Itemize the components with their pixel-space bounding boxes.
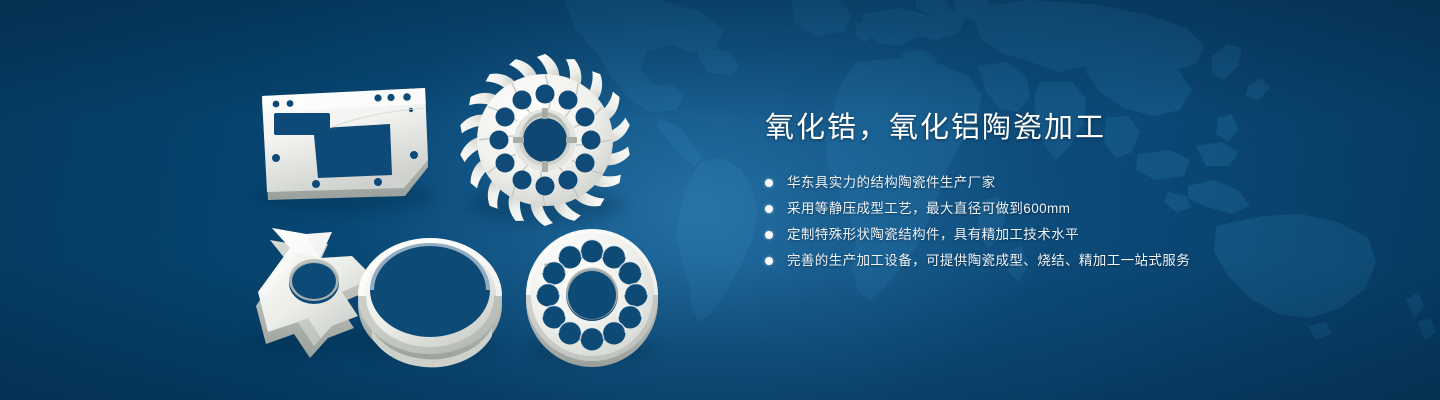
- ceramic-disc: [526, 229, 658, 367]
- banner-copy: 氧化锆，氧化铝陶瓷加工 华东具实力的结构陶瓷件生产厂家 采用等静压成型工艺，最大…: [765, 110, 1365, 278]
- list-item: 采用等静压成型工艺，最大直径可做到600mm: [765, 200, 1365, 218]
- list-item-label: 华东具实力的结构陶瓷件生产厂家: [787, 175, 996, 190]
- bullet-dot-icon: [765, 231, 773, 239]
- ceramic-plate: [262, 88, 428, 200]
- list-item: 定制特殊形状陶瓷结构件，具有精加工技术水平: [765, 226, 1365, 244]
- list-item: 完善的生产加工设备，可提供陶瓷成型、烧结、精加工一站式服务: [765, 252, 1365, 270]
- ceramic-processing-banner: 氧化锆，氧化铝陶瓷加工 华东具实力的结构陶瓷件生产厂家 采用等静压成型工艺，最大…: [0, 0, 1440, 400]
- list-item-label: 采用等静压成型工艺，最大直径可做到600mm: [787, 201, 1070, 216]
- feature-list: 华东具实力的结构陶瓷件生产厂家 采用等静压成型工艺，最大直径可做到600mm 定…: [765, 174, 1365, 270]
- list-item-label: 完善的生产加工设备，可提供陶瓷成型、烧结、精加工一站式服务: [787, 253, 1190, 268]
- list-item-label: 定制特殊形状陶瓷结构件，具有精加工技术水平: [787, 227, 1079, 242]
- bullet-dot-icon: [765, 179, 773, 187]
- list-item: 华东具实力的结构陶瓷件生产厂家: [765, 174, 1365, 192]
- bullet-dot-icon: [765, 205, 773, 213]
- bullet-dot-icon: [765, 257, 773, 265]
- page-title: 氧化锆，氧化铝陶瓷加工: [765, 110, 1365, 146]
- product-photo-group: [0, 0, 760, 400]
